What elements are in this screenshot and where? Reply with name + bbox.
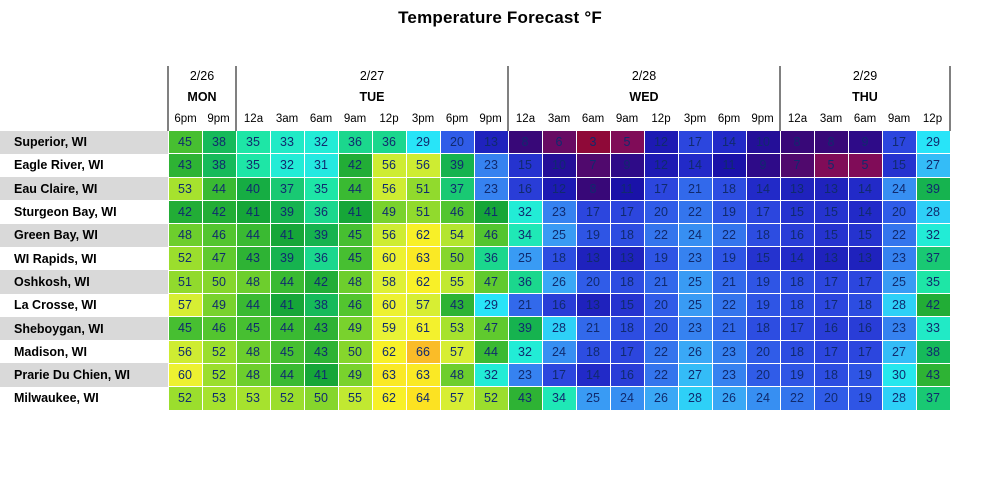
temperature-cell: 15 [780,200,814,223]
temperature-cell: 39 [270,200,304,223]
temperature-cell: 48 [236,340,270,363]
temperature-cell: 22 [678,200,712,223]
table-row: La Crosse, WI574944413846605743292116131… [0,294,950,317]
temperature-cell: 12 [644,131,678,154]
temperature-cell: 18 [780,340,814,363]
temperature-cell: 21 [644,270,678,293]
temperature-cell: 49 [202,294,236,317]
temperature-cell: 13 [610,247,644,270]
hour-header-12a: 12a [508,108,542,131]
temperature-cell: 24 [678,224,712,247]
temperature-cell: 11 [712,154,746,177]
temperature-cell: 19 [576,224,610,247]
temperature-cell: 40 [236,177,270,200]
temperature-cell: 13 [780,177,814,200]
temperature-cell: 29 [916,131,950,154]
temperature-cell: 42 [202,200,236,223]
temperature-cell: 18 [848,294,882,317]
temperature-cell: 32 [916,224,950,247]
temperature-cell: 18 [576,340,610,363]
temperature-cell: 15 [814,200,848,223]
hour-header-6pm: 6pm [712,108,746,131]
temperature-cell: 53 [168,177,202,200]
temperature-cell: 36 [304,200,338,223]
table-row: Eagle River, WI4338353231425656392315107… [0,154,950,177]
hour-header-9pm: 9pm [746,108,780,131]
table-row: WI Rapids, WI524743393645606350362518131… [0,247,950,270]
temperature-cell: 53 [236,387,270,410]
row-label-city: Eagle River, WI [0,154,168,177]
temperature-cell: 48 [236,270,270,293]
temperature-cell: 28 [542,317,576,340]
temperature-cell: 43 [304,317,338,340]
temperature-cell: 34 [542,387,576,410]
temperature-cell: 48 [168,224,202,247]
temperature-cell: 21 [712,317,746,340]
temperature-cell: 53 [202,387,236,410]
temperature-cell: 63 [372,363,406,386]
temperature-cell: 62 [406,224,440,247]
temperature-cell: 50 [440,247,474,270]
temperature-cell: 41 [304,363,338,386]
temperature-cell: 19 [712,247,746,270]
temperature-cell: 28 [678,387,712,410]
header-spacer [0,108,168,131]
temperature-cell: 35 [916,270,950,293]
temperature-cell: 28 [882,387,916,410]
temperature-cell: 44 [270,363,304,386]
hour-header-6am: 6am [848,108,882,131]
temperature-cell: 37 [440,177,474,200]
day-date-header: 2/29 [780,66,950,86]
temperature-cell: 14 [848,200,882,223]
temperature-cell: 17 [882,131,916,154]
temperature-cell: 28 [882,294,916,317]
temperature-cell: 46 [202,224,236,247]
temperature-cell: 57 [440,387,474,410]
header-spacer [0,66,168,86]
temperature-cell: 15 [882,154,916,177]
temperature-cell: 39 [916,177,950,200]
temperature-cell: 8 [780,131,814,154]
temperature-cell: 21 [576,317,610,340]
temperature-cell: 20 [746,340,780,363]
hour-header-6am: 6am [304,108,338,131]
temperature-cell: 8 [814,131,848,154]
day-date-header: 2/28 [508,66,780,86]
day-of-week-header-row: MONTUEWEDTHU [0,86,950,108]
temperature-cell: 18 [610,270,644,293]
temperature-cell: 36 [372,131,406,154]
temperature-cell: 45 [168,131,202,154]
temperature-cell: 32 [508,200,542,223]
temperature-cell: 19 [848,387,882,410]
hour-header-row: 6pm9pm12a3am6am9am12p3pm6pm9pm12a3am6am9… [0,108,950,131]
temperature-cell: 44 [202,177,236,200]
temperature-cell: 17 [780,317,814,340]
hour-header-12p: 12p [644,108,678,131]
temperature-cell: 37 [916,247,950,270]
temperature-cell: 38 [304,294,338,317]
temperature-cell: 6 [542,131,576,154]
temperature-cell: 22 [644,363,678,386]
temperature-cell: 52 [474,387,508,410]
temperature-cell: 26 [678,340,712,363]
table-row: Superior, WI4538353332363629201386351217… [0,131,950,154]
temperature-cell: 12 [644,154,678,177]
temperature-cell: 47 [474,270,508,293]
hour-header-3pm: 3pm [406,108,440,131]
temperature-cell: 27 [678,363,712,386]
day-of-week-header: WED [508,86,780,108]
temperature-cell: 37 [916,387,950,410]
temperature-cell: 56 [372,177,406,200]
temperature-cell: 43 [304,340,338,363]
temperature-cell: 21 [678,177,712,200]
temperature-cell: 20 [814,387,848,410]
table-row: Prarie Du Chien, WI605248444149636348322… [0,363,950,386]
forecast-grid-wrapper: 2/262/272/282/29 MONTUEWEDTHU 6pm9pm12a3… [0,66,1000,411]
temperature-cell: 28 [916,200,950,223]
temperature-cell: 49 [338,363,372,386]
temperature-cell: 44 [474,340,508,363]
temperature-cell: 55 [338,387,372,410]
temperature-cell: 18 [780,270,814,293]
temperature-cell: 19 [644,247,678,270]
temperature-cell: 22 [712,224,746,247]
temperature-cell: 7 [576,154,610,177]
temperature-cell: 16 [814,317,848,340]
temperature-cell: 14 [576,363,610,386]
temperature-cell: 56 [168,340,202,363]
temperature-cell: 17 [644,177,678,200]
temperature-cell: 44 [270,317,304,340]
temperature-cell: 27 [882,340,916,363]
temperature-cell: 39 [270,247,304,270]
hour-header-9pm: 9pm [202,108,236,131]
temperature-cell: 48 [338,270,372,293]
temperature-cell: 16 [610,363,644,386]
temperature-cell: 23 [712,363,746,386]
row-label-city: Sturgeon Bay, WI [0,200,168,223]
temperature-cell: 35 [304,177,338,200]
temperature-cell: 32 [508,340,542,363]
temperature-cell: 16 [508,177,542,200]
row-label-city: Green Bay, WI [0,224,168,247]
row-label-city: Eau Claire, WI [0,177,168,200]
header-spacer [0,86,168,108]
temperature-cell: 23 [474,177,508,200]
temperature-cell: 41 [236,200,270,223]
temperature-cell: 23 [678,247,712,270]
temperature-cell: 25 [542,224,576,247]
temperature-cell: 51 [406,177,440,200]
temperature-cell: 47 [202,247,236,270]
temperature-cell: 56 [372,224,406,247]
temperature-cell: 18 [542,247,576,270]
temperature-cell: 23 [712,340,746,363]
temperature-cell: 43 [440,294,474,317]
temperature-cell: 23 [882,317,916,340]
temperature-cell: 19 [746,294,780,317]
temperature-cell: 63 [406,247,440,270]
temperature-cell: 60 [372,247,406,270]
temperature-cell: 19 [780,363,814,386]
temperature-cell: 41 [270,294,304,317]
temperature-cell: 9 [848,131,882,154]
temperature-cell: 39 [304,224,338,247]
temperature-cell: 57 [168,294,202,317]
temperature-cell: 17 [814,340,848,363]
day-of-week-header: TUE [236,86,508,108]
temperature-cell: 27 [916,154,950,177]
temperature-cell: 36 [338,131,372,154]
temperature-cell: 3 [576,131,610,154]
temperature-cell: 20 [644,317,678,340]
temperature-cell: 19 [712,200,746,223]
temperature-cell: 23 [474,154,508,177]
table-body: Superior, WI4538353332363629201386351217… [0,131,950,411]
temperature-cell: 8 [576,177,610,200]
table-row: Milwaukee, WI525353525055626457524334252… [0,387,950,410]
temperature-cell: 38 [202,154,236,177]
temperature-cell: 22 [780,387,814,410]
row-label-city: Milwaukee, WI [0,387,168,410]
temperature-cell: 45 [270,340,304,363]
temperature-cell: 19 [848,363,882,386]
row-label-city: WI Rapids, WI [0,247,168,270]
temperature-cell: 16 [780,224,814,247]
temperature-cell: 17 [678,131,712,154]
temperature-cell: 36 [508,270,542,293]
temperature-cell: 17 [814,294,848,317]
temperature-cell: 43 [236,247,270,270]
hour-header-12p: 12p [916,108,950,131]
temperature-cell: 25 [882,270,916,293]
temperature-cell: 20 [440,131,474,154]
temperature-cell: 42 [916,294,950,317]
temperature-cell: 50 [202,270,236,293]
temperature-cell: 10 [746,131,780,154]
temperature-cell: 62 [406,270,440,293]
temperature-cell: 24 [610,387,644,410]
temperature-cell: 9 [746,154,780,177]
temperature-cell: 45 [338,224,372,247]
date-header-row: 2/262/272/282/29 [0,66,950,86]
temperature-cell: 23 [508,363,542,386]
temperature-cell: 55 [440,270,474,293]
temperature-cell: 33 [916,317,950,340]
temperature-cell: 13 [576,294,610,317]
temperature-cell: 15 [814,224,848,247]
temperature-cell: 32 [474,363,508,386]
temperature-cell: 17 [610,340,644,363]
temperature-cell: 50 [338,340,372,363]
temperature-cell: 13 [474,131,508,154]
temperature-cell: 14 [848,177,882,200]
temperature-cell: 41 [338,200,372,223]
temperature-cell: 44 [270,270,304,293]
temperature-cell: 18 [746,224,780,247]
temperature-cell: 17 [576,200,610,223]
day-of-week-header: MON [168,86,236,108]
temperature-cell: 32 [304,131,338,154]
temperature-cell: 43 [508,387,542,410]
temperature-cell: 57 [406,294,440,317]
temperature-cell: 30 [882,363,916,386]
temperature-cell: 15 [610,294,644,317]
temperature-forecast-table: 2/262/272/282/29 MONTUEWEDTHU 6pm9pm12a3… [0,66,951,411]
temperature-cell: 60 [168,363,202,386]
hour-header-12a: 12a [236,108,270,131]
temperature-cell: 14 [678,154,712,177]
temperature-cell: 38 [916,340,950,363]
temperature-cell: 17 [848,340,882,363]
hour-header-3am: 3am [542,108,576,131]
hour-header-12p: 12p [372,108,406,131]
temperature-cell: 50 [304,387,338,410]
temperature-cell: 46 [202,317,236,340]
temperature-cell: 52 [168,387,202,410]
row-label-city: Prarie Du Chien, WI [0,363,168,386]
hour-header-12a: 12a [780,108,814,131]
temperature-cell: 35 [236,131,270,154]
temperature-cell: 64 [406,387,440,410]
temperature-cell: 21 [712,270,746,293]
temperature-cell: 20 [644,200,678,223]
temperature-cell: 20 [576,270,610,293]
temperature-cell: 51 [406,200,440,223]
temperature-cell: 56 [372,154,406,177]
temperature-cell: 17 [848,270,882,293]
table-row: Oshkosh, WI51504844424858625547362620182… [0,270,950,293]
row-label-city: La Crosse, WI [0,294,168,317]
temperature-cell: 18 [814,363,848,386]
day-date-header: 2/27 [236,66,508,86]
temperature-cell: 13 [814,177,848,200]
temperature-cell: 26 [712,387,746,410]
temperature-cell: 49 [338,317,372,340]
temperature-cell: 5 [848,154,882,177]
row-label-city: Oshkosh, WI [0,270,168,293]
temperature-cell: 52 [168,247,202,270]
temperature-cell: 39 [508,317,542,340]
temperature-cell: 15 [746,247,780,270]
temperature-cell: 23 [542,200,576,223]
temperature-cell: 58 [372,270,406,293]
temperature-cell: 13 [814,247,848,270]
temperature-cell: 53 [440,317,474,340]
hour-header-3am: 3am [814,108,848,131]
temperature-cell: 9 [610,154,644,177]
temperature-cell: 22 [644,224,678,247]
temperature-cell: 19 [746,270,780,293]
temperature-cell: 29 [406,131,440,154]
temperature-cell: 52 [270,387,304,410]
temperature-cell: 45 [168,317,202,340]
temperature-cell: 25 [508,247,542,270]
temperature-cell: 52 [202,340,236,363]
temperature-cell: 24 [746,387,780,410]
table-row: Sheboygan, WI454645444349596153473928211… [0,317,950,340]
temperature-cell: 18 [746,317,780,340]
temperature-cell: 59 [372,317,406,340]
temperature-cell: 16 [848,317,882,340]
temperature-cell: 18 [610,224,644,247]
temperature-cell: 22 [882,224,916,247]
temperature-cell: 44 [236,294,270,317]
temperature-cell: 14 [780,247,814,270]
table-row: Madison, WI56524845435062665744322418172… [0,340,950,363]
temperature-cell: 18 [712,177,746,200]
temperature-cell: 32 [270,154,304,177]
temperature-cell: 5 [610,131,644,154]
temperature-cell: 17 [610,200,644,223]
temperature-cell: 41 [474,200,508,223]
temperature-cell: 24 [542,340,576,363]
hour-header-9am: 9am [882,108,916,131]
temperature-cell: 62 [372,387,406,410]
temperature-cell: 52 [202,363,236,386]
hour-header-6pm: 6pm [168,108,202,131]
temperature-cell: 10 [542,154,576,177]
temperature-cell: 51 [168,270,202,293]
hour-header-9pm: 9pm [474,108,508,131]
temperature-cell: 38 [202,131,236,154]
temperature-cell: 18 [780,294,814,317]
temperature-cell: 60 [372,294,406,317]
hour-header-3am: 3am [270,108,304,131]
temperature-cell: 36 [304,247,338,270]
temperature-cell: 31 [304,154,338,177]
temperature-cell: 15 [848,224,882,247]
temperature-cell: 25 [678,270,712,293]
temperature-cell: 5 [814,154,848,177]
page-title: Temperature Forecast °F [0,8,1000,28]
temperature-cell: 13 [576,247,610,270]
temperature-cell: 16 [542,294,576,317]
table-row: Sturgeon Bay, WI424241393641495146413223… [0,200,950,223]
temperature-cell: 44 [338,177,372,200]
temperature-cell: 33 [270,131,304,154]
row-label-city: Superior, WI [0,131,168,154]
table-header: 2/262/272/282/29 MONTUEWEDTHU 6pm9pm12a3… [0,66,950,131]
temperature-cell: 66 [406,340,440,363]
temperature-cell: 48 [236,363,270,386]
hour-header-9am: 9am [338,108,372,131]
temperature-cell: 42 [338,154,372,177]
temperature-cell: 62 [372,340,406,363]
temperature-cell: 21 [508,294,542,317]
temperature-cell: 54 [440,224,474,247]
temperature-cell: 49 [372,200,406,223]
temperature-cell: 25 [576,387,610,410]
temperature-cell: 46 [440,200,474,223]
temperature-cell: 23 [882,247,916,270]
temperature-cell: 12 [542,177,576,200]
temperature-cell: 20 [746,363,780,386]
temperature-cell: 39 [440,154,474,177]
temperature-cell: 11 [610,177,644,200]
temperature-cell: 45 [338,247,372,270]
temperature-cell: 35 [236,154,270,177]
temperature-cell: 18 [610,317,644,340]
temperature-cell: 41 [270,224,304,247]
temperature-cell: 13 [848,247,882,270]
temperature-cell: 23 [678,317,712,340]
temperature-cell: 22 [644,340,678,363]
day-of-week-header: THU [780,86,950,108]
